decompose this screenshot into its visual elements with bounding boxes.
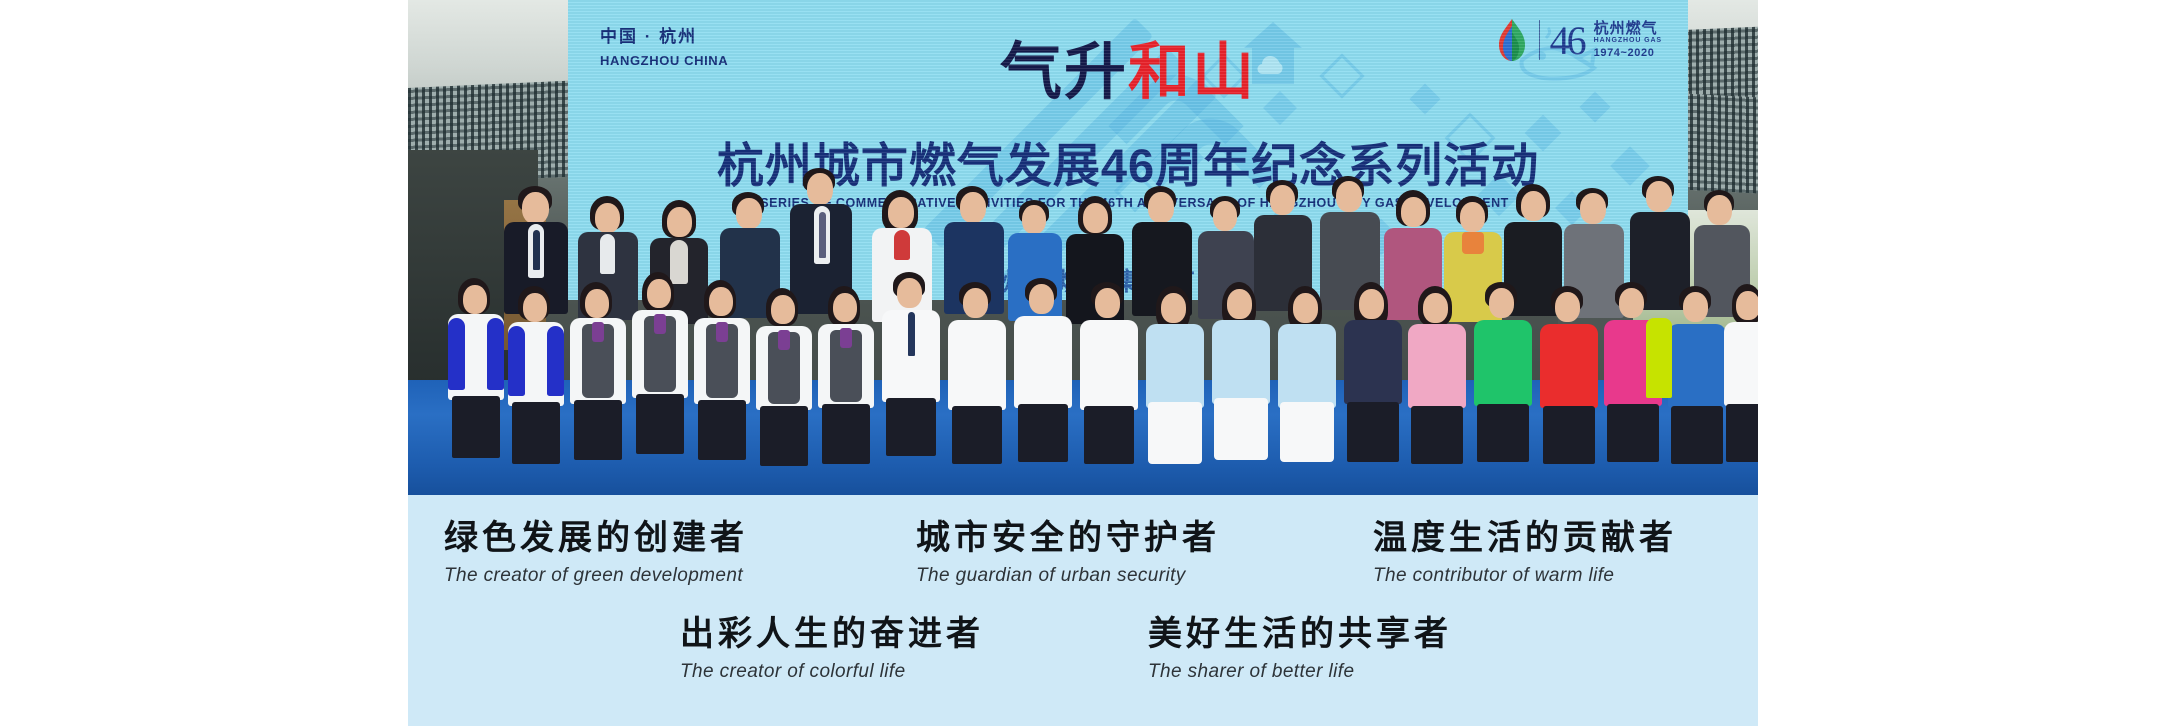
slogan-colorful-life: 出彩人生的奋进者 The creator of colorful life bbox=[680, 615, 984, 685]
slogan-cn: 美好生活的共享者 bbox=[1148, 615, 1452, 654]
content-column: 中国 · 杭州 HANGZHOU CHINA 46 杭州燃气 H bbox=[408, 0, 1758, 726]
slogan-en: The guardian of urban security bbox=[916, 564, 1220, 589]
slogan-cn: 城市安全的守护者 bbox=[916, 519, 1220, 558]
slogan-warm-life: 温度生活的贡献者 The contributor of warm life bbox=[1373, 519, 1677, 589]
slogan-cn: 温度生活的贡献者 bbox=[1373, 519, 1677, 558]
page-root: 中国 · 杭州 HANGZHOU CHINA 46 杭州燃气 H bbox=[0, 0, 2179, 726]
slogan-en: The sharer of better life bbox=[1148, 660, 1452, 685]
slogan-en: The creator of green development bbox=[444, 564, 748, 589]
slogan-urban-security: 城市安全的守护者 The guardian of urban security bbox=[916, 519, 1220, 589]
crowd-group bbox=[408, 0, 1758, 495]
group-photo: 中国 · 杭州 HANGZHOU CHINA 46 杭州燃气 H bbox=[408, 0, 1758, 495]
slogan-en: The creator of colorful life bbox=[680, 660, 984, 685]
slogan-cn: 绿色发展的创建者 bbox=[444, 519, 748, 558]
slogan-en: The contributor of warm life bbox=[1373, 564, 1677, 589]
slogan-panel: 绿色发展的创建者 The creator of green developmen… bbox=[408, 495, 1758, 726]
slogan-better-life: 美好生活的共享者 The sharer of better life bbox=[1148, 615, 1452, 685]
slogan-cn: 出彩人生的奋进者 bbox=[680, 615, 984, 654]
slogan-green-development: 绿色发展的创建者 The creator of green developmen… bbox=[444, 519, 748, 589]
